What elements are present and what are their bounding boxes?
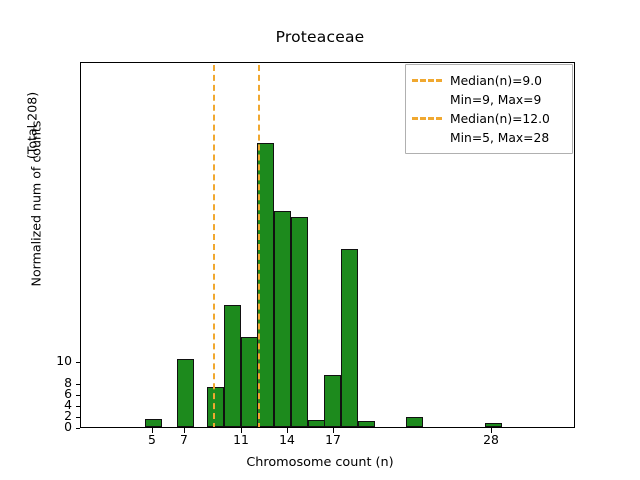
y-tick-mark-8 [76, 384, 81, 385]
y-axis-total-label: (Total 208) [25, 26, 40, 226]
x-tick-mark-28 [491, 428, 492, 433]
y-tick-mark-6 [76, 395, 81, 396]
legend-label-2: Median(n)=12.0 [450, 112, 550, 126]
chart-title: Proteaceae [0, 28, 640, 46]
y-tick-mark-2 [76, 417, 81, 418]
y-tick-mark-4 [76, 406, 81, 407]
x-tick-label-7: 7 [154, 434, 214, 446]
x-tick-mark-14 [287, 428, 288, 433]
legend-label-3: Min=5, Max=28 [450, 131, 549, 145]
median-line-1 [213, 62, 215, 428]
legend-dashed-line-icon [412, 79, 442, 82]
legend-dashed-line-icon [412, 117, 442, 120]
y-tick-label-0: 0 [12, 421, 72, 433]
legend-row-2: Median(n)=12.0 [412, 109, 564, 128]
legend-label-0: Median(n)=9.0 [450, 74, 542, 88]
x-tick-mark-17 [333, 428, 334, 433]
legend-row-0: Median(n)=9.0 [412, 71, 564, 90]
legend-label-1: Min=9, Max=9 [450, 93, 541, 107]
x-tick-label-28: 28 [461, 434, 521, 446]
x-tick-mark-11 [241, 428, 242, 433]
x-tick-mark-5 [152, 428, 153, 433]
legend-row-3: Min=5, Max=28 [412, 128, 564, 147]
y-tick-mark-10 [76, 362, 81, 363]
chart-figure: Proteaceae 02468105711141728 Normalized … [0, 0, 640, 480]
chart-legend: Median(n)=9.0Min=9, Max=9Median(n)=12.0M… [405, 64, 573, 154]
median-line-2 [258, 62, 260, 428]
x-axis-label: Chromosome count (n) [0, 455, 640, 470]
x-tick-label-17: 17 [303, 434, 363, 446]
x-tick-mark-7 [184, 428, 185, 433]
y-tick-mark-0 [76, 428, 81, 429]
legend-row-1: Min=9, Max=9 [412, 90, 564, 109]
